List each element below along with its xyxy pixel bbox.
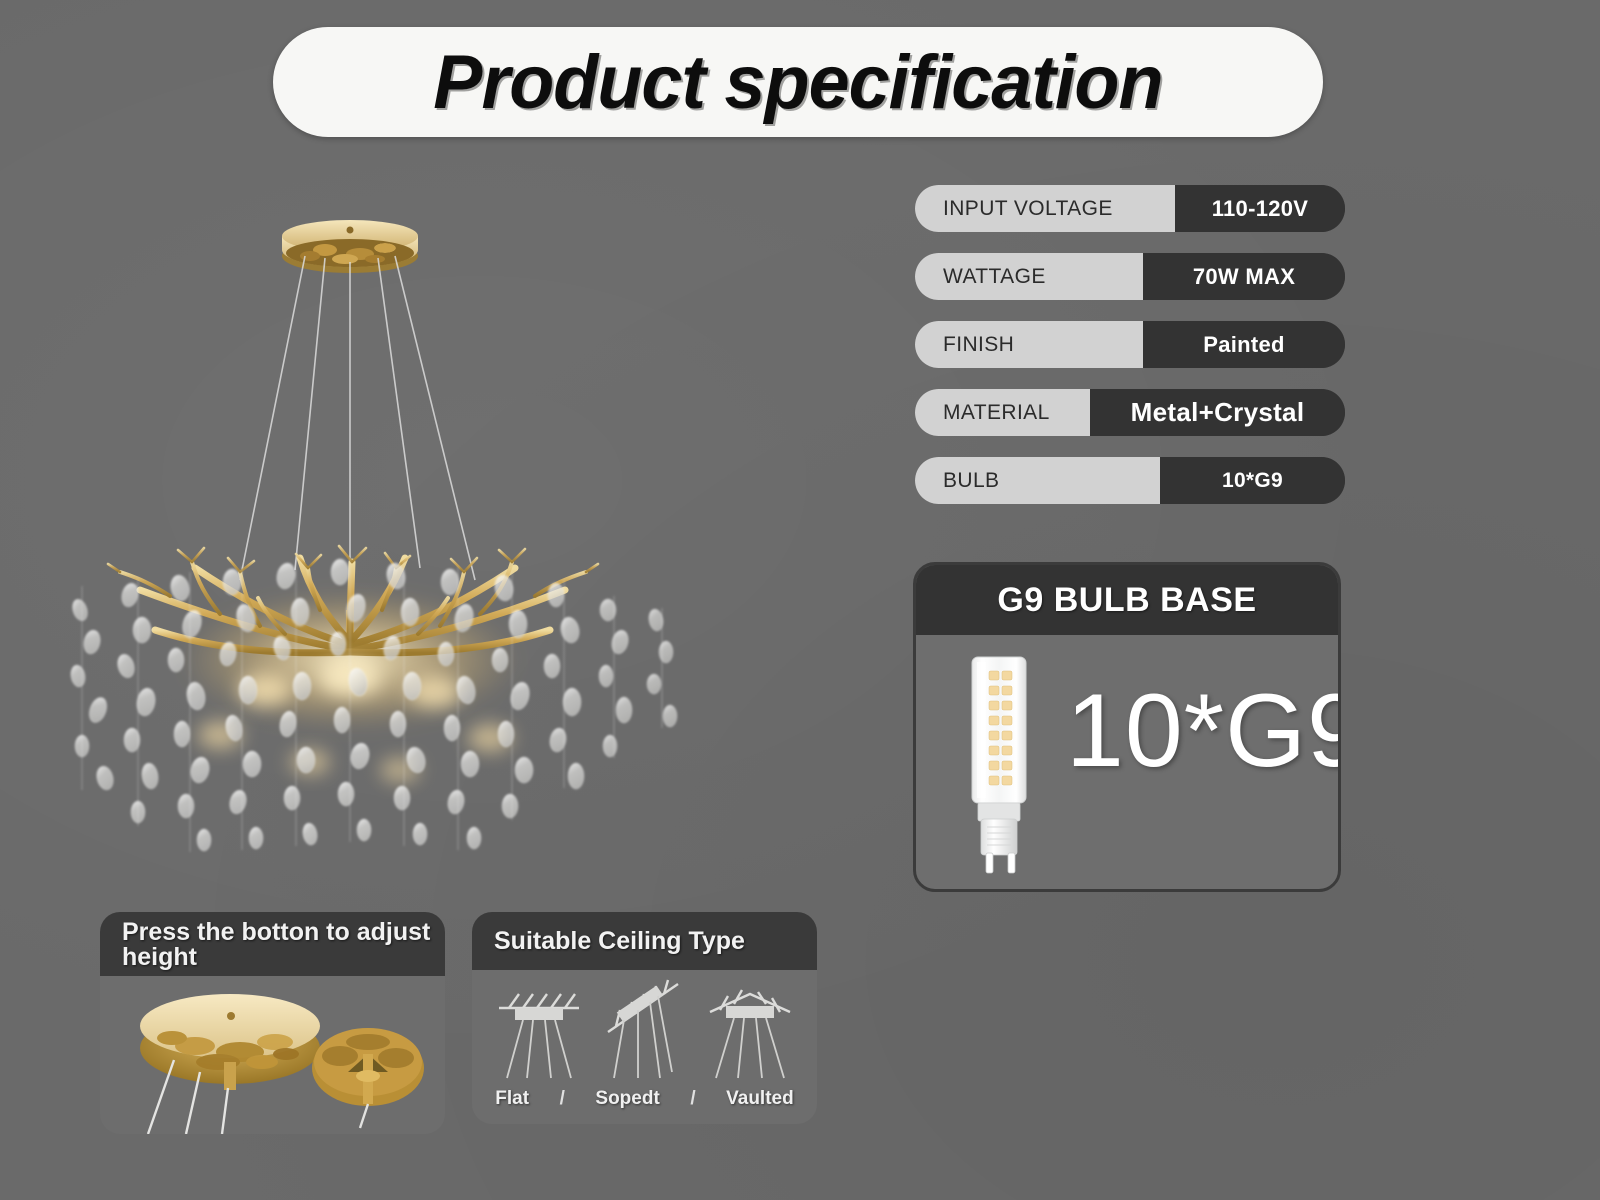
ceiling-label-vaulted: Vaulted: [726, 1088, 794, 1110]
spec-row-finish: FINISH Painted: [915, 321, 1345, 368]
flat-ceiling-icon: [493, 978, 585, 1082]
spec-row-wattage: WATTAGE 70W MAX: [915, 253, 1345, 300]
spec-row-material: MATERIAL Metal+Crystal: [915, 389, 1345, 436]
product-specification-page: Product specification INPUT VOLTAGE 110-…: [0, 0, 1600, 1200]
g9-bulb-count-label: 10*G9: [1066, 679, 1341, 783]
g9-card-header: G9 BULB BASE: [916, 565, 1338, 635]
suitable-ceiling-type-card: Suitable Ceiling Type: [472, 912, 817, 1124]
ceiling-icons-row: [472, 970, 817, 1082]
spec-value-material: Metal+Crystal: [1090, 389, 1345, 436]
ceiling-labels-row: Flat / Sopedt / Vaulted: [472, 1082, 817, 1116]
ceiling-label-sloped: Sopedt: [595, 1088, 659, 1110]
ceiling-card-title: Suitable Ceiling Type: [494, 927, 745, 956]
adjust-height-card: Press the botton to adjust height: [100, 912, 445, 1134]
ceiling-separator-2: /: [690, 1088, 695, 1110]
spec-value-finish: Painted: [1143, 321, 1345, 368]
g9-led-bulb-icon: [964, 653, 1038, 875]
g9-card-body: 10*G9: [916, 635, 1338, 889]
canopy-detail-inset: [312, 1028, 424, 1128]
ceiling-card-body: Flat / Sopedt / Vaulted: [472, 970, 817, 1124]
spec-key-finish: FINISH: [915, 321, 1143, 368]
spec-key-wattage: WATTAGE: [915, 253, 1143, 300]
page-title: Product specification: [433, 39, 1162, 126]
adjust-height-card-body: [100, 976, 445, 1134]
ceiling-separator-1: /: [560, 1088, 565, 1110]
spec-key-material: MATERIAL: [915, 389, 1090, 436]
main-canopy: [140, 994, 320, 1090]
spec-value-wattage: 70W MAX: [1143, 253, 1345, 300]
spec-row-input-voltage: INPUT VOLTAGE 110-120V: [915, 185, 1345, 232]
specification-list: INPUT VOLTAGE 110-120V WATTAGE 70W MAX F…: [915, 185, 1345, 525]
spec-value-bulb: 10*G9: [1160, 457, 1345, 504]
sloped-ceiling-icon: [598, 978, 690, 1082]
gold-canopy-photo: [100, 976, 445, 1134]
spec-key-input-voltage: INPUT VOLTAGE: [915, 185, 1175, 232]
spec-value-input-voltage: 110-120V: [1175, 185, 1345, 232]
g9-card-title: G9 BULB BASE: [997, 581, 1256, 620]
vaulted-ceiling-icon: [704, 978, 796, 1082]
ceiling-label-flat: Flat: [495, 1088, 529, 1110]
g9-bulb-base-card: G9 BULB BASE: [913, 562, 1341, 892]
adjust-height-card-title: Press the botton to adjust height: [122, 920, 445, 970]
product-image-chandelier: [20, 190, 720, 890]
spec-row-bulb: BULB 10*G9: [915, 457, 1345, 504]
ceiling-card-header: Suitable Ceiling Type: [472, 912, 817, 970]
page-title-banner: Product specification: [273, 27, 1323, 137]
adjust-height-card-header: Press the botton to adjust height: [100, 912, 445, 976]
spec-key-bulb: BULB: [915, 457, 1160, 504]
